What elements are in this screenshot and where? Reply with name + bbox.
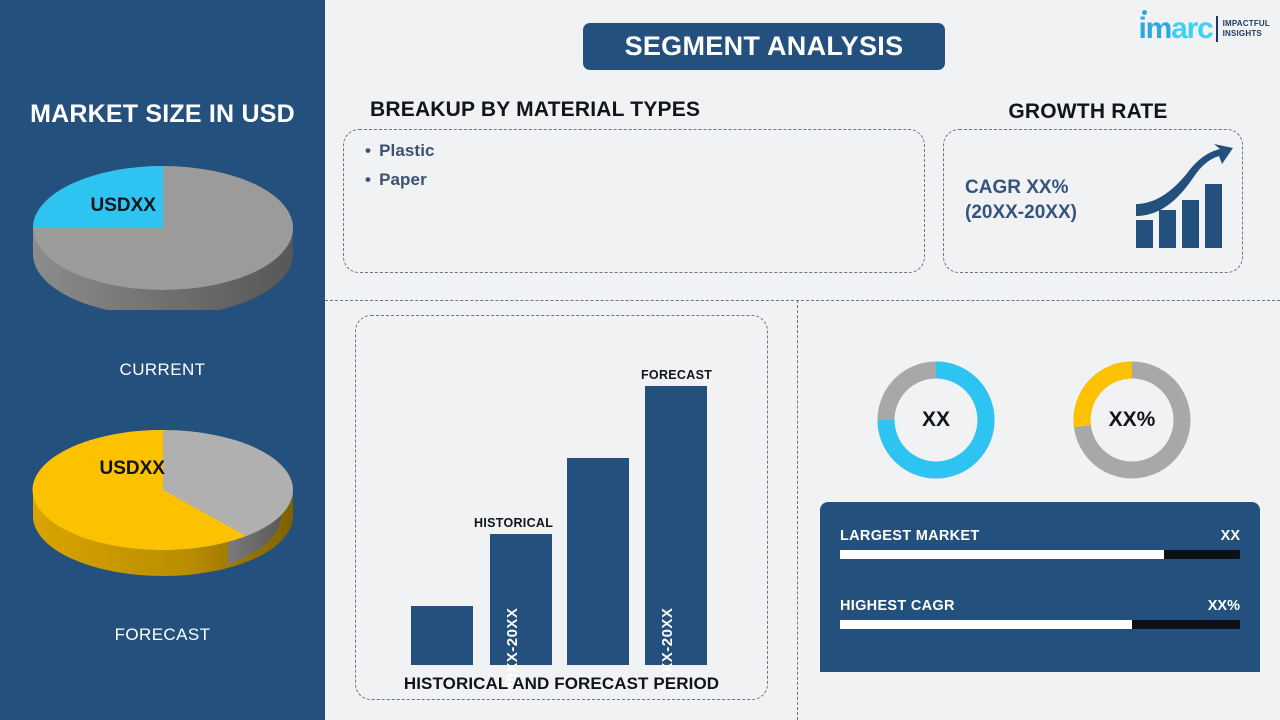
donut-chart-1: XX: [877, 361, 995, 479]
pie-3d-current: USDXX: [28, 150, 298, 310]
imarc-logo: imarc IMPACTFUL INSIGHTS: [1139, 12, 1271, 46]
bar: 20XX-20XX: [490, 534, 552, 665]
cagr-line2: (20XX-20XX): [965, 200, 1155, 225]
logo-word-part2: arc: [1171, 12, 1212, 45]
stats-card: LARGEST MARKET XX HIGHEST CAGR XX%: [820, 502, 1260, 672]
market-size-current-chart: USDXX CURRENT: [0, 150, 325, 310]
cagr-text: CAGR XX% (20XX-20XX): [965, 175, 1155, 226]
donut-1-value: XX: [922, 408, 950, 432]
donut-chart-2: XX%: [1073, 361, 1191, 479]
logo-dot-icon: [1142, 10, 1147, 15]
stat-value: XX%: [1208, 598, 1240, 614]
stat-progress-bar: [840, 620, 1240, 629]
market-size-forecast-chart: USDXX FORECAST: [0, 420, 325, 580]
stat-row-largest-market: LARGEST MARKET XX: [840, 528, 1240, 559]
sidebar: MARKET SIZE IN USD: [0, 0, 325, 720]
bar-annotation-historical: HISTORICAL: [474, 516, 553, 530]
pie-3d-forecast: USDXX: [28, 420, 298, 580]
growth-arrow-bars-icon: [1130, 142, 1235, 252]
pie-current-caption: CURRENT: [0, 360, 325, 380]
growth-title: GROWTH RATE: [943, 100, 1233, 124]
pie-current-svg: [28, 150, 298, 310]
logo-word-part1: im: [1139, 12, 1172, 45]
logo-divider: [1216, 16, 1218, 42]
list-item: Paper: [365, 170, 435, 190]
logo-tagline-line1: IMPACTFUL: [1223, 19, 1270, 29]
sidebar-title: MARKET SIZE IN USD: [0, 100, 325, 129]
stat-progress-fill: [840, 620, 1132, 629]
bar: [411, 606, 473, 665]
list-item: Plastic: [365, 141, 435, 161]
divider-vertical: [797, 300, 798, 720]
bar: 20XX-20XX: [645, 386, 707, 665]
donut-2-center: XX%: [1091, 379, 1173, 461]
cagr-line1: CAGR XX%: [965, 175, 1155, 200]
bar: [567, 458, 629, 665]
bar-chart-xlabel: HISTORICAL AND FORECAST PERIOD: [355, 674, 768, 694]
stat-progress-bar: [840, 550, 1240, 559]
divider-horizontal: [325, 300, 1280, 301]
stat-value: XX: [1221, 528, 1240, 544]
logo-wordmark: imarc: [1139, 14, 1213, 44]
main-panel: SEGMENT ANALYSIS imarc IMPACTFUL INSIGHT…: [325, 0, 1280, 720]
stat-label: LARGEST MARKET: [840, 528, 1240, 544]
stat-label: HIGHEST CAGR: [840, 598, 1240, 614]
materials-list: Plastic Paper: [365, 141, 435, 199]
materials-title: BREAKUP BY MATERIAL TYPES: [370, 98, 700, 122]
page-title: SEGMENT ANALYSIS: [583, 23, 945, 70]
stat-row-highest-cagr: HIGHEST CAGR XX%: [840, 598, 1240, 629]
bar-chart: 20XX-20XX 20XX-20XX HISTORICAL FORECAST: [411, 358, 707, 665]
donut-2-value: XX%: [1109, 408, 1156, 432]
donut-1-center: XX: [895, 379, 977, 461]
logo-tagline-line2: INSIGHTS: [1223, 29, 1270, 39]
pie-forecast-svg: [28, 420, 298, 580]
pie-forecast-caption: FORECAST: [0, 625, 325, 645]
infographic-root: MARKET SIZE IN USD: [0, 0, 1280, 720]
stat-progress-fill: [840, 550, 1164, 559]
logo-tagline: IMPACTFUL INSIGHTS: [1223, 19, 1270, 39]
bar-annotation-forecast: FORECAST: [641, 368, 712, 382]
